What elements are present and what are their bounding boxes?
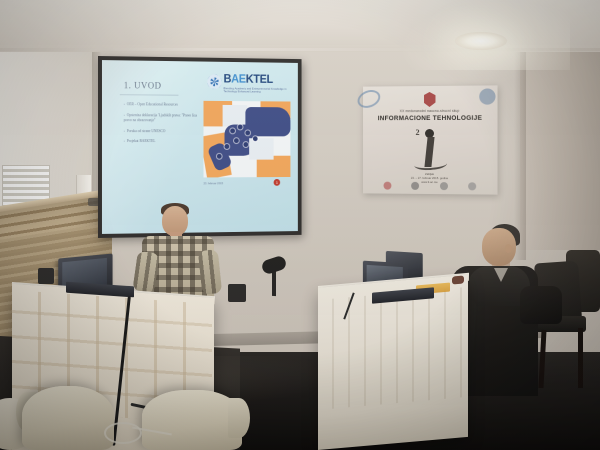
- gear-icon: [207, 74, 221, 89]
- montenegro-crest-icon: [424, 92, 436, 107]
- projection-screen: 1. UVOD OER – Open Educational Resources…: [98, 56, 302, 238]
- baektel-logo: BAEKTEL Blending Academic and Entreprene…: [207, 73, 292, 99]
- banner-subtitle: XX medunarodni naucno-strucni skup: [363, 109, 498, 114]
- slide-bullet-list: OER – Open Educational Resources Opsteni…: [124, 102, 200, 150]
- map-marker-dot: [238, 125, 243, 130]
- conference-room-photo: 1. UVOD OER – Open Educational Resources…: [0, 0, 600, 450]
- sponsor-logo-icon: [411, 182, 419, 190]
- slide-bullet: Projekat BAEKTEL: [124, 139, 200, 145]
- conference-banner: XX medunarodni naucno-strucni skup INFOR…: [363, 85, 498, 194]
- map-marker-dot: [243, 142, 248, 147]
- map-marker-dot: [234, 138, 239, 143]
- banner-title: INFORMACIONE TEHNOLOGIJE: [363, 115, 498, 123]
- participant-ear: [505, 244, 512, 253]
- banner-globe-icon: [479, 88, 495, 104]
- slide-title-rule: [120, 94, 179, 96]
- banner-numeral: 2: [416, 128, 420, 137]
- cable-loop-on-floor: [104, 422, 142, 444]
- speaker-right: [228, 284, 246, 302]
- sponsor-logo-icon: [468, 182, 476, 190]
- baektel-logo-text: BAEKTEL: [224, 74, 273, 86]
- cup-on-table: [452, 275, 464, 284]
- baektel-logo-subtitle: Blending Academic and Entrepreneurial Kn…: [224, 87, 296, 94]
- foreground-chair-left: [22, 386, 114, 450]
- background-chair-leg: [578, 328, 583, 388]
- map-marker-dot: [225, 144, 230, 149]
- foreground-chair-wing: [228, 398, 250, 438]
- banner-it-logo-icon: 2: [410, 128, 450, 172]
- slide-bullet: Poruka od strane UNESCO: [124, 129, 200, 135]
- map-neighbor-region: [223, 105, 248, 127]
- balkan-map-graphic: [203, 101, 290, 178]
- banner-swoosh: [413, 158, 447, 171]
- projection-screen-surface: 1. UVOD OER – Open Educational Resources…: [102, 60, 298, 234]
- map-neighbor-region: [249, 138, 273, 159]
- slide-bullet: OER – Open Educational Resources: [124, 102, 200, 108]
- microphone-stand: [272, 270, 276, 296]
- map-marker-dot: [253, 136, 258, 141]
- logo-part-ae: AE: [231, 74, 246, 86]
- banner-sponsor-logos: [363, 182, 498, 191]
- logo-part-ktel: KTEL: [246, 74, 273, 86]
- speaker-left: [38, 268, 54, 284]
- map-marker-dot: [245, 130, 250, 135]
- slide-date-caption: 23. februar 2015: [203, 181, 223, 185]
- slide-bullet: Opsteniza deklaracija 'Ljudskih prava: "…: [124, 113, 200, 124]
- foreground-chair-right: [142, 390, 242, 450]
- map-marker-dot: [217, 154, 222, 159]
- right-table-cloth-folds: [318, 287, 466, 410]
- slide-page-badge: 1: [274, 179, 281, 186]
- map-marker-dot: [230, 128, 235, 133]
- sponsor-logo-icon: [383, 182, 391, 190]
- presentation-slide: 1. UVOD OER – Open Educational Resources…: [102, 60, 298, 234]
- sponsor-logo-icon: [440, 182, 448, 190]
- slide-title: 1. UVOD: [124, 80, 162, 90]
- bag-on-chair: [520, 286, 562, 324]
- logo-part-b: B: [224, 74, 232, 86]
- ceiling-light-icon: [455, 32, 507, 50]
